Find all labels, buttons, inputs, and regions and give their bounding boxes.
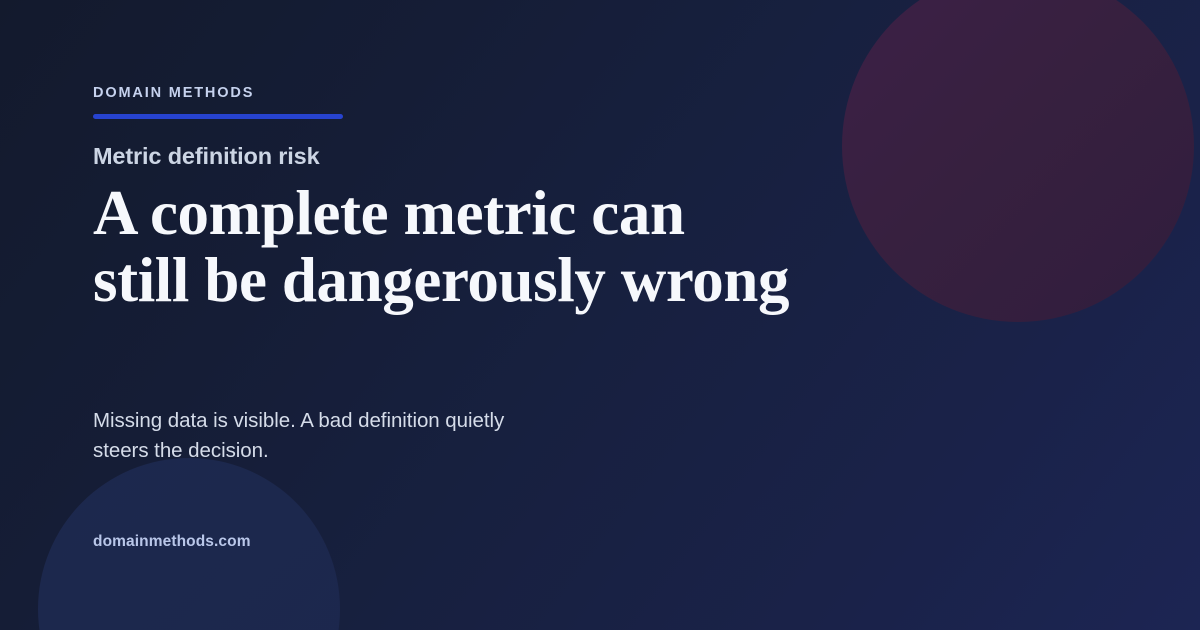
social-share-card: DOMAIN METHODS Metric definition risk A … [0,0,1200,630]
subcopy-line-2: steers the decision. [93,436,693,466]
page-title: A complete metric can still be dangerous… [93,180,853,314]
kicker-topic-label: Metric definition risk [93,141,320,171]
subcopy-line-1: Missing data is visible. A bad definitio… [93,406,693,436]
eyebrow-brand-label: DOMAIN METHODS [93,86,254,101]
card-content: DOMAIN METHODS Metric definition risk A … [93,0,1107,630]
site-url-label: domainmethods.com [93,534,251,550]
headline-line-1: A complete metric can [93,180,853,247]
headline-line-2: still be dangerously wrong [93,247,853,314]
accent-rule [93,114,343,119]
subtitle-text: Missing data is visible. A bad definitio… [93,406,693,466]
